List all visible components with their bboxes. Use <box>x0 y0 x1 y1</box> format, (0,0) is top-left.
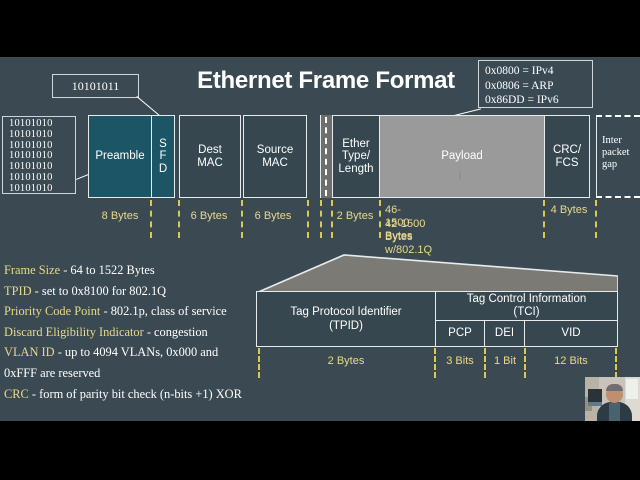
size-label-preamble: 8 Bytes <box>96 210 144 223</box>
binary-row: 10101010 <box>9 184 75 195</box>
tag-field-label: VID <box>561 327 580 340</box>
list-item: VLAN ID - up to 4094 VLANs, 0x000 and <box>4 342 270 363</box>
notes-list: Frame Size - 64 to 1522 Bytes TPID - set… <box>4 260 270 404</box>
frame-field-source-mac[interactable]: Source MAC <box>243 115 307 198</box>
webcam-window <box>626 379 638 399</box>
webcam-person-shirt <box>609 403 620 421</box>
frame-field-payload[interactable]: Payload <box>379 115 545 198</box>
screen: Ethernet Frame Format 10101011 0x0800 = … <box>0 0 640 480</box>
tag-size-dei: 1 Bit <box>486 355 524 367</box>
tag-size-tpid: 2 Bytes <box>258 355 434 367</box>
tag-insertion-slot[interactable] <box>320 115 332 198</box>
frame-field-label: Ether Type/ Length <box>338 138 373 176</box>
list-item: Frame Size - 64 to 1522 Bytes <box>4 260 270 281</box>
list-item: CRC - form of parity bit check (n-bits +… <box>4 384 270 405</box>
tag-field-label: Tag Protocol Identifier(TPID) <box>290 305 401 333</box>
tag-field-label: PCP <box>448 327 472 340</box>
frame-field-label: CRC/ FCS <box>553 144 581 169</box>
size-tick <box>178 200 180 238</box>
list-item-desc: - up to 4094 VLANs, 0x000 and <box>55 345 219 359</box>
list-item-term: VLAN ID <box>4 345 55 359</box>
frame-field-interpacket-gap[interactable]: Inter packet gap <box>598 115 640 198</box>
size-label-payload-alt: 42-1500 Bytes w/802.1Q <box>385 218 432 257</box>
tag-field-vid[interactable]: VID <box>524 320 618 347</box>
tag-field-pcp[interactable]: PCP <box>435 320 485 347</box>
list-item-desc: - congestion <box>144 325 208 339</box>
size-tick <box>150 200 152 238</box>
page-title: Ethernet Frame Format <box>196 67 456 95</box>
tag-field-dei[interactable]: DEI <box>484 320 525 347</box>
webcam-overlay[interactable] <box>585 377 640 421</box>
slide-canvas: Ethernet Frame Format 10101011 0x0800 = … <box>0 57 640 421</box>
size-label-source-mac: 6 Bytes <box>246 210 300 223</box>
tag-field-label: Tag Control Information(TCI) <box>467 293 587 319</box>
list-item-desc: - set to 0x8100 for 802.1Q <box>32 284 167 298</box>
ethertype-values-callout: 0x0800 = IPv4 0x0806 = ARP 0x86DD = IPv6 <box>478 60 593 108</box>
size-tick <box>241 200 243 238</box>
list-item: 0xFFF are reserved <box>4 363 270 384</box>
vlan-tag-expansion: Tag Protocol Identifier(TPID) Tag Contro… <box>256 253 618 388</box>
size-tick <box>543 200 545 238</box>
tag-insertion-dashed-line <box>325 117 327 196</box>
ethertype-line-1: 0x0800 = IPv4 <box>485 64 586 79</box>
sfd-pattern-callout: 10101011 <box>52 74 139 98</box>
tag-field-tpid[interactable]: Tag Protocol Identifier(TPID) <box>256 291 436 347</box>
list-item-term: Frame Size <box>4 263 60 277</box>
frame-field-sfd[interactable]: S F D <box>151 115 175 198</box>
size-tick <box>320 200 322 238</box>
frame-field-ether-type-length[interactable]: Ether Type/ Length <box>332 115 380 198</box>
frame-field-label: Payload <box>441 150 483 163</box>
list-item-term: Priority Code Point <box>4 304 100 318</box>
frame-field-label: Preamble <box>95 150 144 163</box>
frame-field-crc-fcs[interactable]: CRC/ FCS <box>544 115 590 198</box>
binary-row: 10101010 <box>9 130 75 141</box>
tag-size-pcp: 3 Bits <box>436 355 484 367</box>
size-tick <box>595 200 597 238</box>
list-item-desc: 0xFFF are reserved <box>4 366 100 380</box>
list-item-term: Discard Eligibility Indicator <box>4 325 144 339</box>
size-tick <box>307 200 309 238</box>
list-item-desc: - form of parity bit check (n-bits +1) X… <box>29 387 242 401</box>
list-item: Discard Eligibility Indicator - congesti… <box>4 322 270 343</box>
frame-field-label: Inter packet gap <box>602 135 629 170</box>
letterbox-bottom <box>0 421 640 480</box>
list-item: TPID - set to 0x8100 for 802.1Q <box>4 281 270 302</box>
ethertype-line-3: 0x86DD = IPv6 <box>485 93 586 108</box>
size-label-ether-type: 2 Bytes <box>333 210 377 223</box>
frame-field-label: Source MAC <box>257 144 293 169</box>
preamble-binary-box: 10101010 10101010 10101010 10101010 1010… <box>2 116 76 194</box>
frame-field-label: Dest MAC <box>197 144 223 169</box>
list-item-term: CRC <box>4 387 29 401</box>
size-tick <box>379 200 381 238</box>
tag-size-vid: 12 Bits <box>526 355 616 367</box>
tag-field-tci[interactable]: Tag Control Information(TCI) <box>435 291 618 321</box>
expansion-trapezoid <box>256 253 618 293</box>
list-item-term: TPID <box>4 284 32 298</box>
frame-field-preamble[interactable]: Preamble <box>88 115 152 198</box>
letterbox-top <box>0 0 640 57</box>
ethertype-line-2: 0x0806 = ARP <box>485 79 586 94</box>
frame-field-label: S F D <box>159 138 167 175</box>
webcam-person-hair <box>606 384 623 391</box>
list-item-desc: - 64 to 1522 Bytes <box>60 263 155 277</box>
list-item-desc: - 802.1p, class of service <box>100 304 226 318</box>
frame-field-dest-mac[interactable]: Dest MAC <box>179 115 241 198</box>
list-item: Priority Code Point - 802.1p, class of s… <box>4 301 270 322</box>
size-label-dest-mac: 6 Bytes <box>184 210 234 223</box>
size-label-crc-fcs: 4 Bytes <box>546 204 592 217</box>
webcam-monitor <box>588 389 602 402</box>
mouse-cursor: I <box>458 168 462 183</box>
tag-field-label: DEI <box>495 327 514 340</box>
